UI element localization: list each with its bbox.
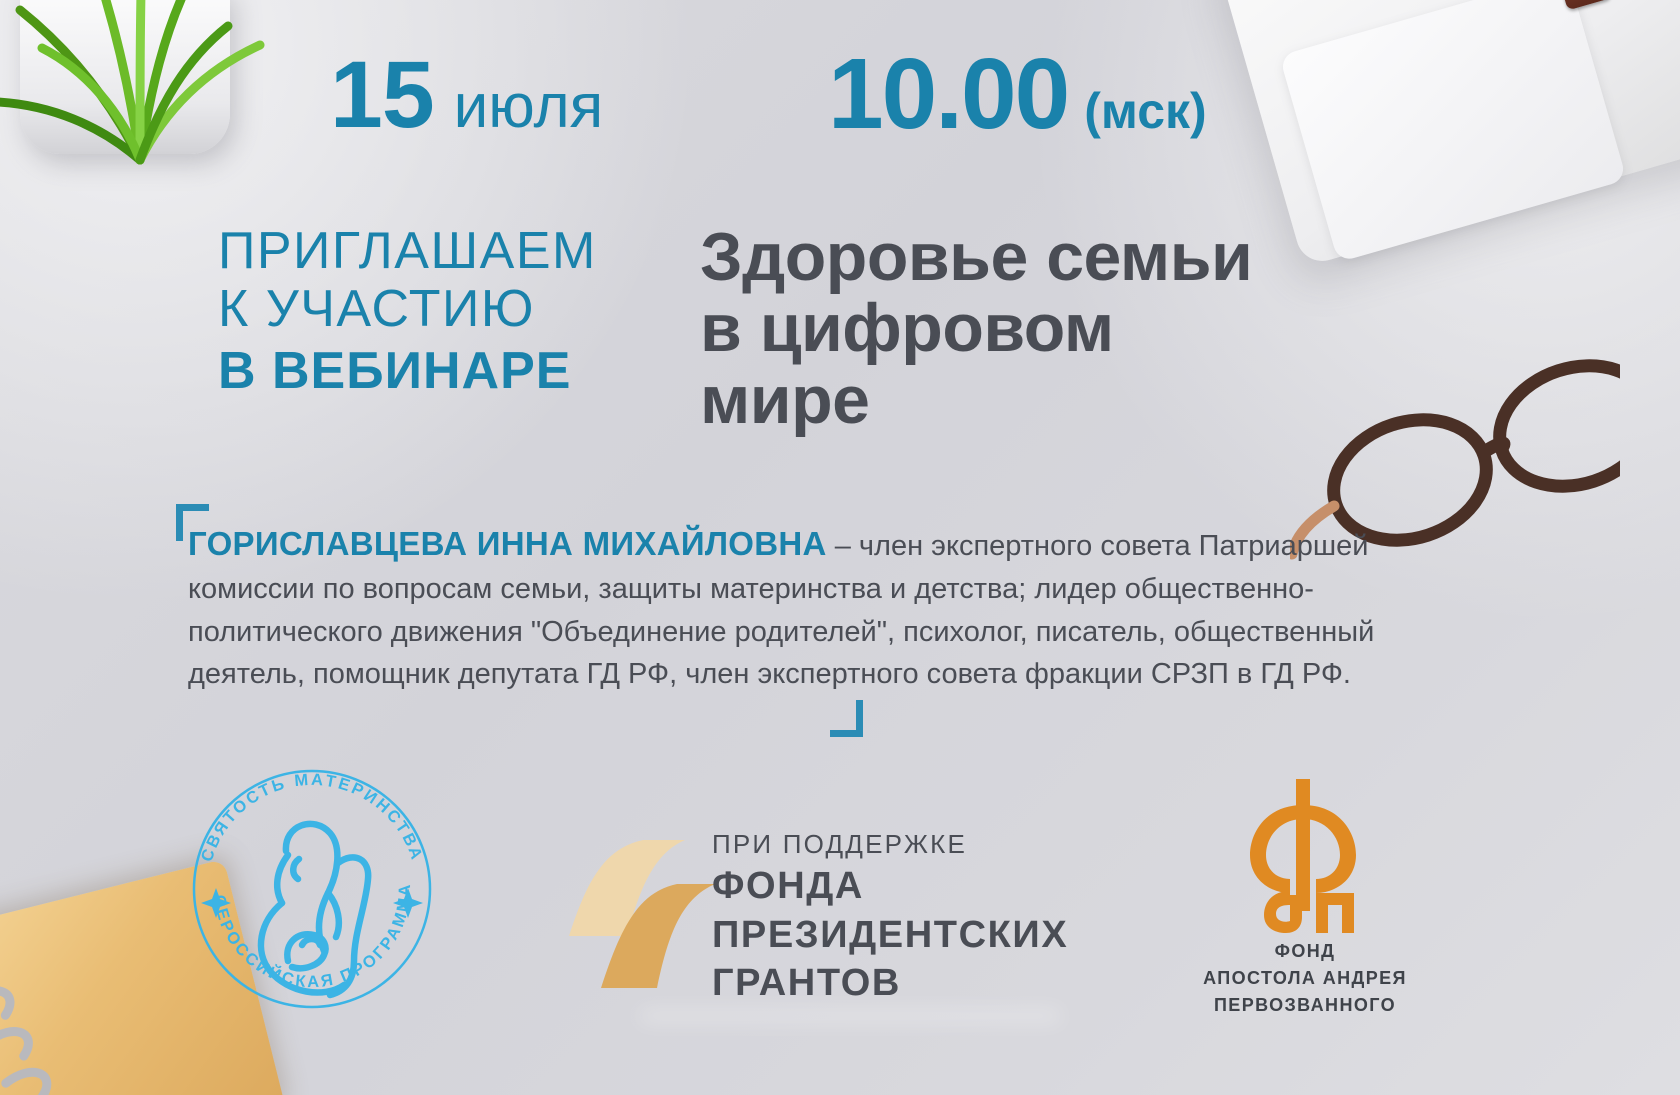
speaker-name: ГОРИСЛАВЦЕВА ИННА МИХАЙЛОВНА xyxy=(188,525,827,562)
event-time: 10.00 (мск) xyxy=(828,44,1207,144)
topic-line-2: в цифровом xyxy=(700,293,1252,364)
apostle-andrew-fund-logo xyxy=(1248,775,1358,935)
invitation-line-3: В ВЕБИНАРЕ xyxy=(218,342,597,400)
webinar-poster: 15 июля 10.00 (мск) ПРИГЛАШАЕМ К УЧАСТИЮ… xyxy=(0,0,1680,1095)
event-date-day: 15 xyxy=(330,48,434,143)
svg-text:СВЯТОСТЬ МАТЕРИНСТВА: СВЯТОСТЬ МАТЕРИНСТВА xyxy=(198,771,426,864)
pgf-line-1: ФОНДА xyxy=(712,865,1068,908)
pgf-support-label: ПРИ ПОДДЕРЖКЕ xyxy=(712,830,1068,859)
invitation-line-1: ПРИГЛАШАЕМ xyxy=(218,222,597,280)
event-date-month: июля xyxy=(454,76,604,138)
motherhood-top-arc-text: СВЯТОСТЬ МАТЕРИНСТВА xyxy=(198,771,426,864)
topic-line-3: мире xyxy=(700,365,1252,436)
faap-line-2: АПОСТОЛА АНДРЕЯ xyxy=(1180,965,1430,992)
pgf-line-2: ПРЕЗИДЕНТСКИХ xyxy=(712,914,1068,957)
presidential-grants-fund-text: ПРИ ПОДДЕРЖКЕ ФОНДА ПРЕЗИДЕНТСКИХ ГРАНТО… xyxy=(712,830,1068,1005)
bracket-bottom-right-decoration xyxy=(830,700,863,737)
presidential-grants-fund-logo xyxy=(565,818,715,998)
invitation-line-2: К УЧАСТИЮ xyxy=(218,280,597,338)
sanctity-of-motherhood-logo: СВЯТОСТЬ МАТЕРИНСТВА ВСЕРОССИЙСКАЯ ПРОГР… xyxy=(178,755,446,1023)
motherhood-star-icon xyxy=(201,888,423,918)
topic-line-1: Здоровье семьи xyxy=(700,222,1252,293)
event-date: 15 июля xyxy=(330,48,603,143)
webinar-topic-title: Здоровье семьи в цифровом мире xyxy=(700,222,1252,436)
speaker-description: ГОРИСЛАВЦЕВА ИННА МИХАЙЛОВНА – член эксп… xyxy=(188,520,1418,695)
pgf-line-3: ГРАНТОВ xyxy=(712,962,1068,1005)
invitation-block: ПРИГЛАШАЕМ К УЧАСТИЮ В ВЕБИНАРЕ xyxy=(218,222,597,401)
apostle-andrew-fund-text: ФОНД АПОСТОЛА АНДРЕЯ ПЕРВОЗВАННОГО xyxy=(1180,938,1430,1019)
event-time-value: 10.00 xyxy=(828,44,1068,144)
event-time-timezone: (мск) xyxy=(1084,86,1206,136)
faap-line-1: ФОНД xyxy=(1180,938,1430,965)
faap-line-3: ПЕРВОЗВАННОГО xyxy=(1180,992,1430,1019)
